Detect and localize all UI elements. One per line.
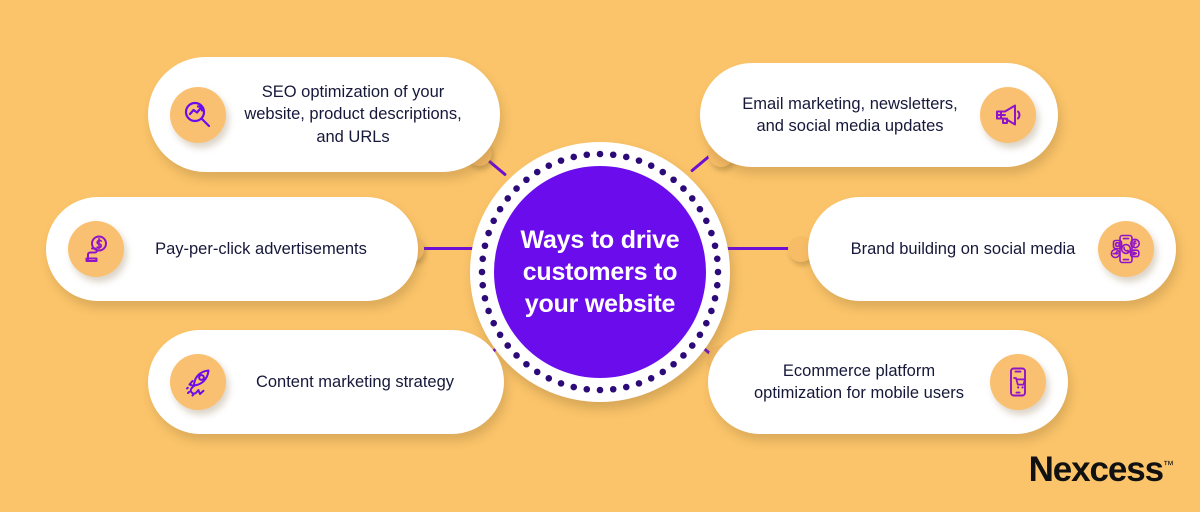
panel-content[interactable]: Content marketing strategy [148, 330, 504, 434]
logo-trademark: ™ [1163, 459, 1174, 471]
connector-line-brand [722, 247, 796, 250]
megaphone-icon [980, 87, 1036, 143]
center-circle: Ways to drive customers to your website [470, 142, 730, 402]
panel-brand[interactable]: Brand building on social media [808, 197, 1176, 301]
panel-brand-text: Brand building on social media [834, 238, 1092, 260]
seo-magnifier-growth-icon [170, 87, 226, 143]
panel-content-text: Content marketing strategy [232, 371, 478, 393]
rocket-icon [170, 354, 226, 410]
panel-seo[interactable]: SEO optimization of your website, produc… [148, 57, 500, 172]
panel-ecommerce[interactable]: Ecommerce platform optimization for mobi… [708, 330, 1068, 434]
social-media-phone-icon [1098, 221, 1154, 277]
panel-email-text: Email marketing, newsletters, and social… [726, 93, 974, 138]
nexcess-logo: Nexcess™ [1029, 450, 1174, 490]
logo-text: Nexcess [1029, 450, 1163, 489]
mobile-shopping-cart-icon [990, 354, 1046, 410]
hand-click-coin-icon [68, 221, 124, 277]
panel-email[interactable]: Email marketing, newsletters, and social… [700, 63, 1058, 167]
panel-ppc[interactable]: Pay-per-click advertisements [46, 197, 418, 301]
panel-ecommerce-text: Ecommerce platform optimization for mobi… [734, 360, 984, 405]
panel-ppc-text: Pay-per-click advertisements [130, 238, 392, 260]
center-title: Ways to drive customers to your website [494, 166, 706, 378]
infographic-canvas: Ways to drive customers to your website … [0, 0, 1200, 512]
panel-seo-text: SEO optimization of your website, produc… [232, 81, 474, 148]
